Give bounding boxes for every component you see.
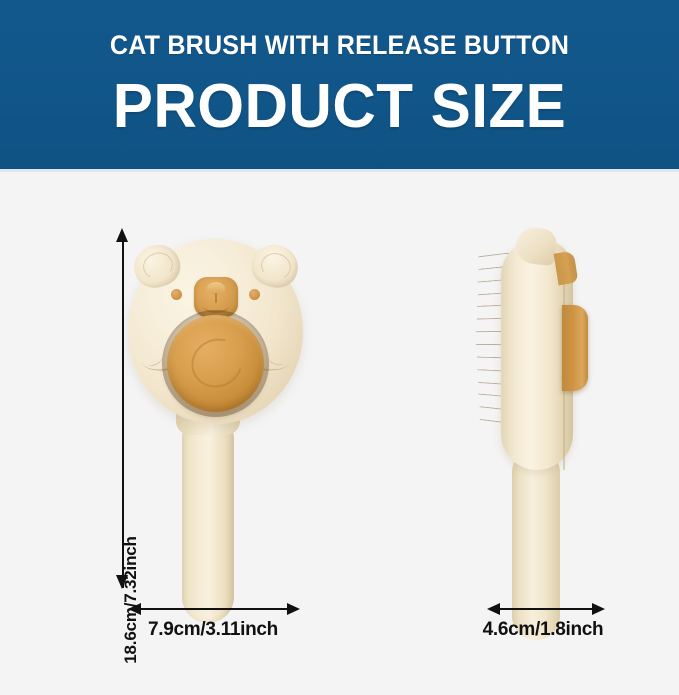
banner-subtitle: CAT BRUSH WITH RELEASE BUTTON: [24, 30, 655, 61]
brush-handle: [182, 413, 234, 623]
release-button-side[interactable]: [562, 305, 588, 391]
release-button-swirl: [183, 330, 251, 397]
dimension-label-width-side: 4.6cm/1.8inch: [478, 619, 608, 641]
dimension-label-width-front: 7.9cm/3.11inch: [118, 619, 308, 641]
brush-handle-side: [512, 448, 560, 640]
bear-eye-left-icon: [171, 289, 182, 300]
bear-ear-inner-right: [258, 250, 294, 283]
header-banner: CAT BRUSH WITH RELEASE BUTTON PRODUCT SI…: [0, 0, 679, 172]
dimension-line-width-front: [139, 608, 289, 610]
product-size-diagram: 18.6cm/7.32inch 7.9cm/3.11inch 4.6cm/1.8…: [0, 172, 679, 679]
bear-ear-left-icon: [129, 239, 185, 292]
brush-head-bear-face: [128, 239, 303, 424]
release-button-side-top: [554, 251, 579, 286]
dimension-arrow-right-front: [287, 603, 300, 615]
banner-title: PRODUCT SIZE: [10, 76, 669, 138]
release-button[interactable]: [167, 315, 264, 412]
product-side-view: [476, 232, 611, 622]
bear-ear-inner-left: [140, 249, 176, 282]
dimension-label-height-wrap: 18.6cm/7.32inch: [62, 382, 102, 542]
dimension-line-width-side: [498, 608, 594, 610]
product-front-view: [128, 217, 303, 617]
bear-eye-right-icon: [249, 289, 260, 300]
bear-ear-right-icon: [247, 239, 303, 292]
dimension-arrow-right-side: [592, 603, 605, 615]
dimension-label-height: 18.6cm/7.32inch: [121, 505, 141, 695]
